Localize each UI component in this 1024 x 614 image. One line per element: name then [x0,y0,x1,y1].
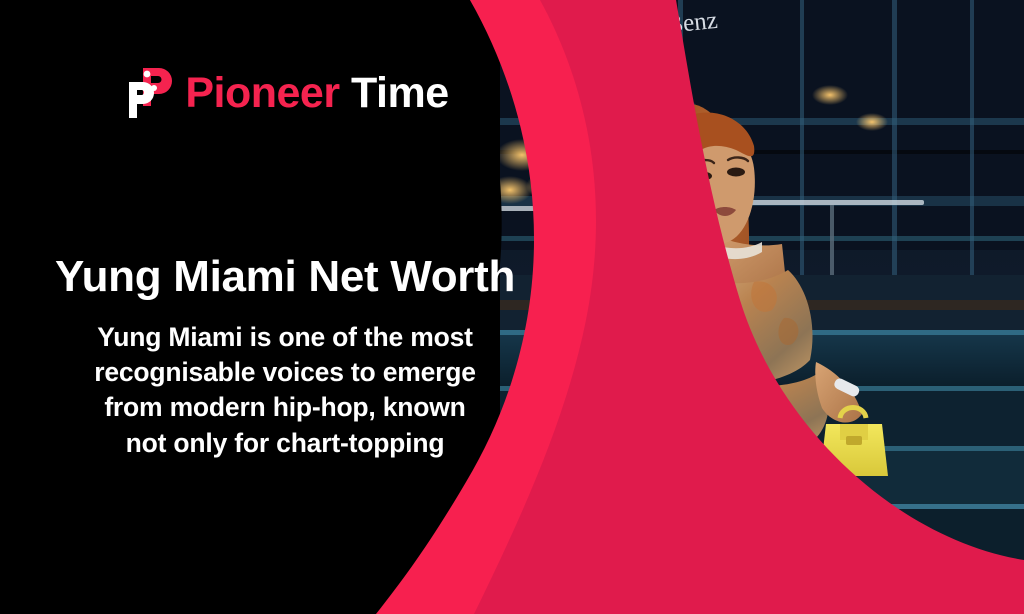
summary-line-4: not only for chart-topping [35,426,535,461]
brand-wordmark: Pioneer Time [185,72,448,115]
brand-word-pioneer: Pioneer [185,69,351,117]
summary-line-1: Yung Miami is one of the most [35,320,535,355]
pioneer-time-p-monogram-icon [121,62,177,124]
page-title: Yung Miami Net Worth [0,253,570,301]
summary-line-3: from modern hip-hop, known [35,390,535,425]
photo-illustration: Mercedes-Benz STADIUM [500,0,1024,614]
brand-word-time: Time [351,69,449,117]
brand-logo[interactable]: Pioneer Time [0,62,570,124]
promo-banner: Mercedes-Benz STADIUM [0,0,1024,614]
feature-photo: Mercedes-Benz STADIUM [500,0,1024,614]
summary-line-2: recognisable voices to emerge [35,355,535,390]
text-content: Pioneer Time Yung Miami Net Worth Yung M… [0,0,570,614]
summary-text: Yung Miami is one of the most recognisab… [35,320,535,461]
